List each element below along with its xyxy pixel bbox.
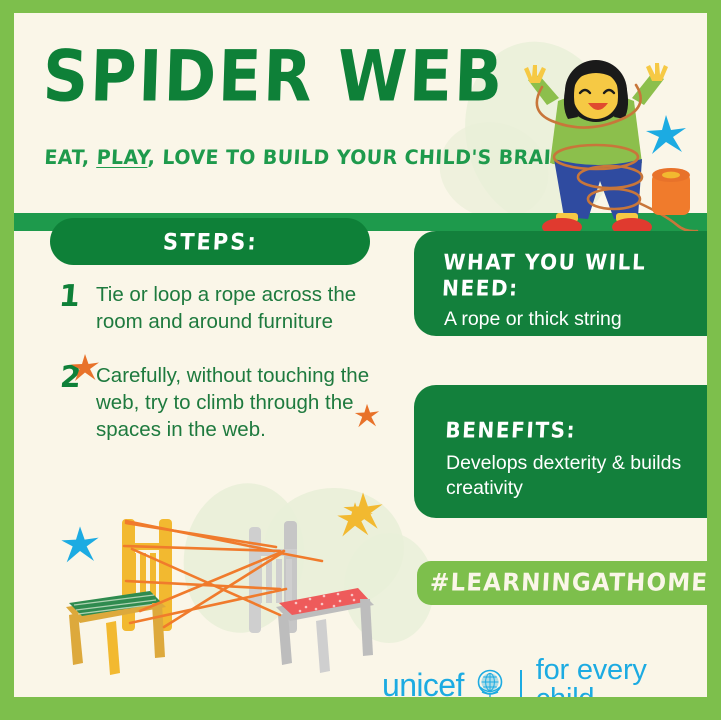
logo-divider <box>520 670 522 698</box>
steps-heading-label: STEPS: <box>162 229 258 255</box>
step-number: 1 <box>56 281 99 336</box>
unicef-wordmark: unicef <box>382 669 464 697</box>
what-you-will-need-panel: WHAT YOU WILL NEED: A rope or thick stri… <box>414 231 707 336</box>
step-text: Carefully, without touching the web, try… <box>96 362 378 444</box>
chairs-rope-web-illustration <box>44 511 384 676</box>
benefits-panel-body: Develops dexterity & builds creativity <box>446 451 707 501</box>
benefits-panel-heading: BENEFITS: <box>445 417 707 443</box>
steps-list: 1 Tie or loop a rope across the room and… <box>58 281 378 469</box>
orange-star-icon <box>354 403 380 434</box>
page-title: SPIDER WEB <box>42 41 506 112</box>
subtitle-part-before: EAT, <box>44 146 97 169</box>
rope-spool-illustration <box>648 165 694 226</box>
hashtag-banner: #LEARNINGATHOME <box>417 561 707 605</box>
benefits-panel: BENEFITS: Develops dexterity & builds cr… <box>414 385 707 518</box>
unicef-tagline: for every child <box>536 656 707 697</box>
list-item: 2 Carefully, without touching the web, t… <box>58 362 378 444</box>
orange-star-icon <box>70 353 100 388</box>
step-text: Tie or loop a rope across the room and a… <box>96 281 378 336</box>
subtitle-underlined-word: PLAY <box>96 146 148 169</box>
hashtag-label: #LEARNINGATHOME <box>429 569 707 597</box>
need-panel-heading: WHAT YOU WILL NEED: <box>441 249 707 301</box>
united-nations-emblem-icon <box>474 667 506 698</box>
poster-canvas: SPIDER WEB EAT, PLAY, LOVE TO BUILD YOUR… <box>14 13 707 697</box>
steps-heading-pill: STEPS: <box>50 218 370 265</box>
poster-frame: SPIDER WEB EAT, PLAY, LOVE TO BUILD YOUR… <box>0 0 721 720</box>
need-panel-body: A rope or thick string <box>444 307 707 332</box>
blue-star-icon <box>644 113 688 162</box>
list-item: 1 Tie or loop a rope across the room and… <box>58 281 378 336</box>
unicef-logo: unicef <box>382 656 707 697</box>
